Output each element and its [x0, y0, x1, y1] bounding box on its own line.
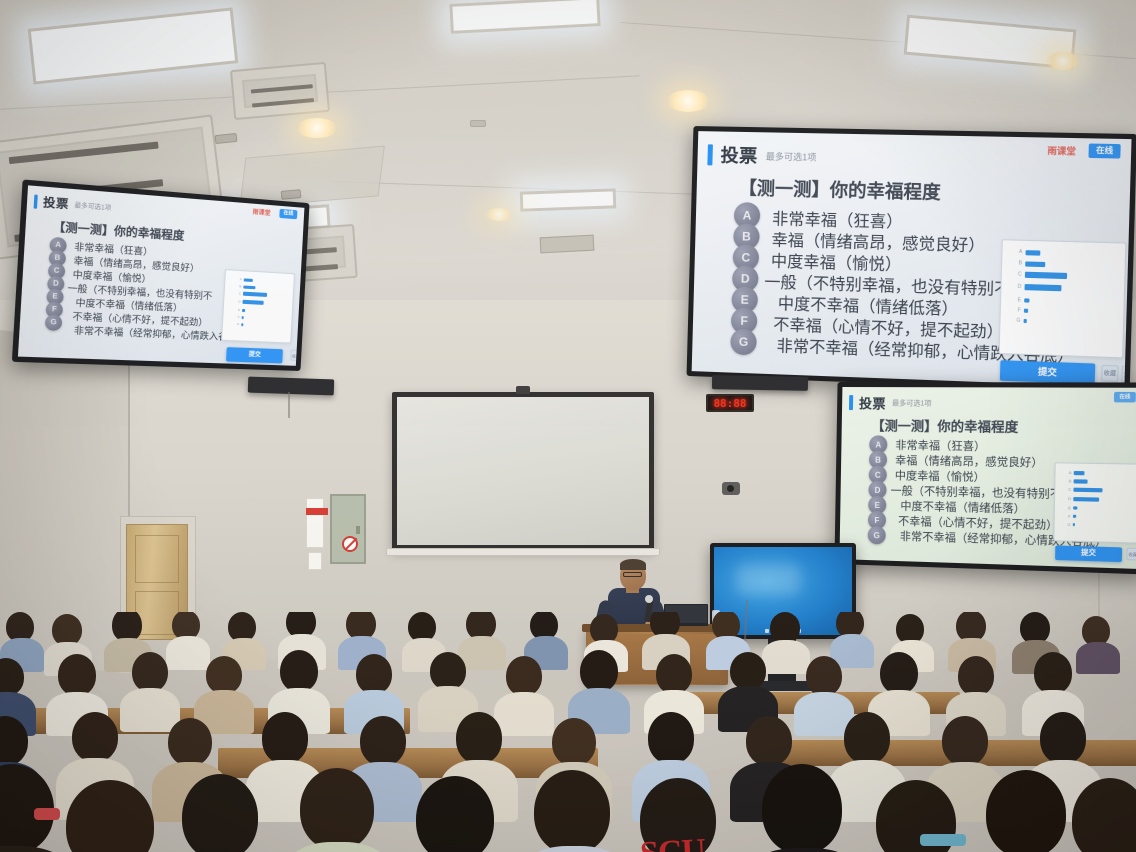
results-panel: A B C D E F G — [221, 269, 295, 343]
result-row: E — [1012, 297, 1030, 304]
ceiling-speaker — [215, 133, 238, 144]
question-title: 【测一测】你的幸福程度 — [53, 218, 185, 244]
wall-notice — [308, 552, 322, 570]
option-letters: A B C D E F G — [730, 202, 760, 355]
result-row: F — [1011, 307, 1028, 314]
favorite-button[interactable]: 收藏 — [1126, 548, 1136, 561]
display-main[interactable]: 投票 最多可选1项 雨课堂 在线 【测一测】你的幸福程度 A B C D E F… — [687, 126, 1136, 393]
poll-header-sub: 最多可选1项 — [892, 398, 932, 408]
wall-camera — [722, 482, 740, 495]
projector-mount — [540, 235, 595, 254]
submit-button[interactable]: 提交 — [226, 347, 283, 363]
poll-header-sub: 最多可选1项 — [766, 149, 817, 163]
display-left[interactable]: 投票 最多可选1项 雨课堂 在线 【测一测】你的幸福程度 A B C D E F… — [12, 179, 310, 371]
poll-header-title: 投票 — [859, 393, 886, 412]
option-letters: A B C D E F G — [868, 435, 888, 544]
submit-button[interactable]: 提交 — [1000, 360, 1095, 384]
accent-bar — [849, 395, 853, 410]
projection-screen — [392, 392, 654, 550]
projection-screen-roller — [386, 548, 660, 556]
no-smoking-icon — [342, 536, 358, 552]
result-row: G — [1011, 317, 1027, 324]
option-letters: A B C D E F G — [45, 237, 67, 331]
presenter-glasses — [623, 572, 642, 577]
display-left-bracket — [248, 377, 335, 396]
wall-cabinet[interactable] — [330, 494, 366, 564]
presenter-hair — [620, 559, 646, 570]
lecture-hall-photo: 88:88 投票 最多可选1项 雨课堂 在线 【测一测】你的幸福程度 A B C… — [0, 0, 1136, 852]
ceiling-downlight — [1046, 52, 1080, 70]
poll-header-sub: 最多可选1项 — [74, 199, 111, 211]
hair-clip — [34, 808, 60, 820]
brand-logo: 雨课堂 — [252, 207, 270, 218]
results-panel: A B C D E F G — [999, 239, 1127, 358]
slide-left: 投票 最多可选1项 雨课堂 在线 【测一测】你的幸福程度 A B C D E F… — [18, 185, 305, 365]
microphone-head — [645, 595, 653, 603]
slide-right: 投票 最多可选1项 在线 【测一测】你的幸福程度 A B C D E F G 非… — [839, 387, 1136, 569]
result-row: B — [1013, 260, 1046, 267]
poll-header-title: 投票 — [43, 193, 70, 212]
brand-badge: 在线 — [1114, 392, 1136, 403]
option-letter-g[interactable]: G — [730, 328, 757, 355]
display-right[interactable]: 投票 最多可选1项 在线 【测一测】你的幸福程度 A B C D E F G 非… — [834, 382, 1136, 574]
ceiling-downlight — [666, 90, 710, 112]
notice-red-banner — [306, 508, 328, 515]
submit-button[interactable]: 提交 — [1055, 545, 1122, 562]
question-title: 【测一测】你的幸福程度 — [871, 415, 1018, 436]
accent-bar — [707, 144, 713, 165]
display-main-bracket — [712, 375, 808, 391]
poll-header-title: 投票 — [720, 142, 758, 169]
question-title: 【测一测】你的幸福程度 — [738, 174, 941, 205]
brand-badge: 在线 — [1088, 143, 1120, 158]
option-text-g: 非常不幸福（经常抑郁，心情跌入谷底） — [74, 323, 246, 344]
headband — [920, 834, 966, 846]
slide-main: 投票 最多可选1项 雨课堂 在线 【测一测】你的幸福程度 A B C D E F… — [692, 131, 1132, 387]
option-letter-g[interactable]: G — [868, 526, 886, 545]
ceiling-downlight — [486, 208, 512, 221]
ceiling-speaker — [281, 189, 302, 200]
ceiling-light-panel — [449, 0, 600, 34]
option-letter-g[interactable]: G — [45, 314, 63, 331]
wall-notice — [306, 498, 324, 548]
ceiling-downlight — [296, 118, 338, 138]
projection-screen-knob — [516, 386, 530, 394]
brand-logo: 雨课堂 — [1047, 144, 1076, 158]
results-panel: A B C D E F G — [1053, 462, 1136, 543]
brand-badge: 在线 — [279, 209, 297, 219]
shirt-logo-text: SCU — [639, 832, 706, 852]
display-left-cable — [288, 392, 290, 418]
ceiling-light-panel — [520, 188, 617, 211]
audience-section: SCU — [0, 612, 1136, 852]
favorite-button[interactable]: 收藏 — [1101, 365, 1118, 382]
result-row: D — [1012, 284, 1062, 292]
led-clock-value: 88:88 — [713, 397, 746, 410]
ceiling-speaker — [470, 120, 486, 127]
ac-cassette-unit — [230, 62, 330, 120]
result-row: C — [1012, 271, 1067, 279]
accent-bar — [34, 194, 38, 208]
ceiling-light-panel — [28, 7, 239, 84]
result-row: A — [1013, 249, 1040, 256]
led-clock-display: 88:88 — [706, 394, 754, 412]
